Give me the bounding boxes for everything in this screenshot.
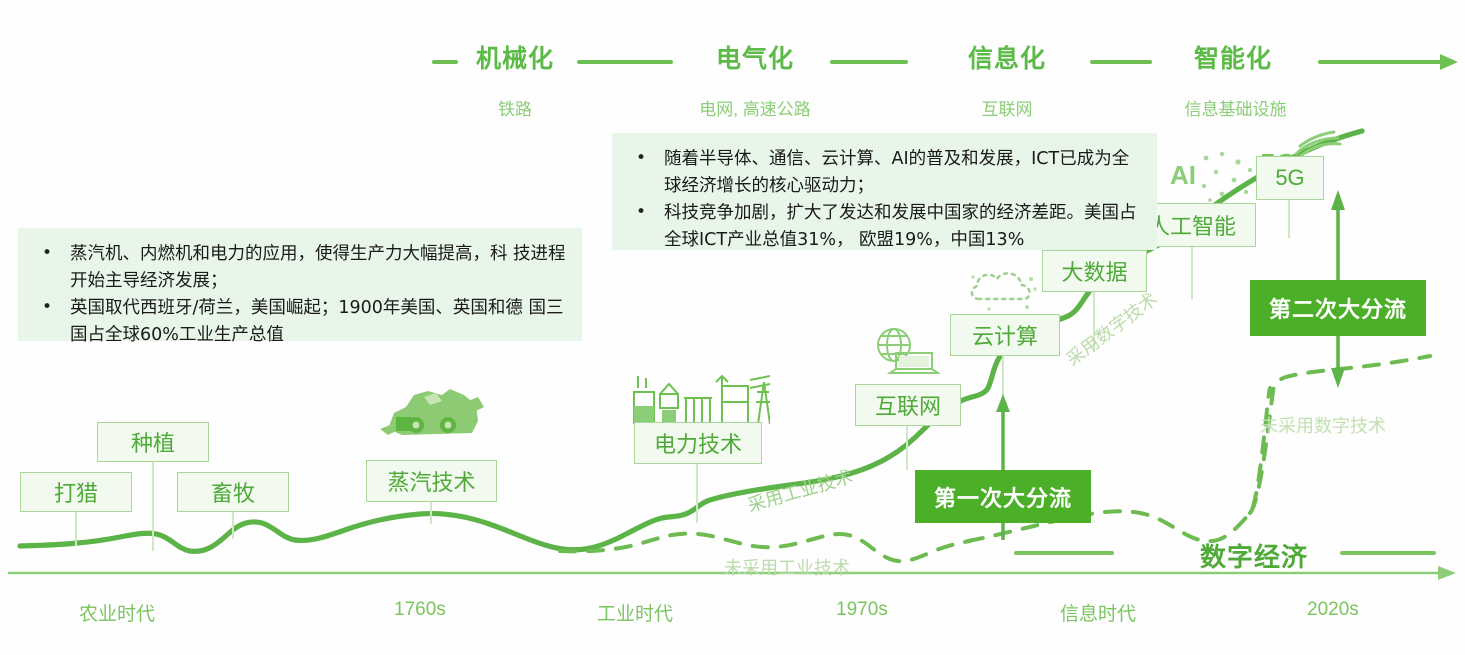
header-arrow-layer (0, 0, 1465, 655)
infographic-canvas: 机械化 铁路 电气化 电网, 高速公路 信息化 互联网 智能化 信息基础设施 (0, 0, 1465, 655)
header-arrow-head (1440, 54, 1458, 70)
